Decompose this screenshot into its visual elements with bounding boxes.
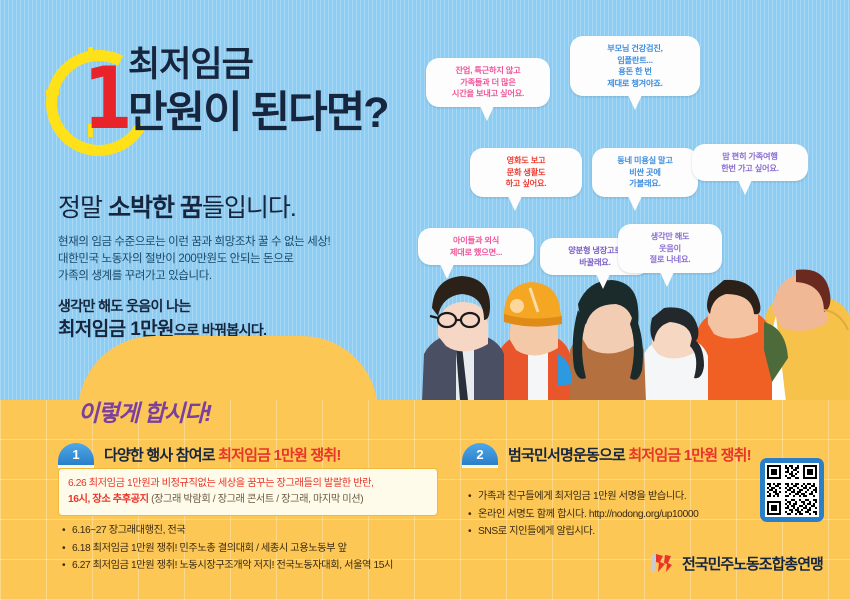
- section-2-title-plain: 범국민서명운동으로: [508, 447, 628, 464]
- headline-line-2: 만원이 된다면?: [128, 88, 448, 138]
- list-item: 6.18 최저임금 1만원 쟁취! 민주노총 결의대회 / 세종시 고용노동부 …: [62, 540, 462, 558]
- organization-name: 전국민주노동조합총연맹: [682, 553, 823, 574]
- subheading-emphasis: 소박한 꿈: [108, 194, 202, 222]
- event-line-1: 6.26 최저임금 1만원과 비정규직없는 세상을 꿈꾸는 장그래들의 발랄한 …: [68, 476, 428, 492]
- bubble-tail: [738, 180, 752, 195]
- bubble-line: 한번 가고 싶어요.: [702, 163, 798, 175]
- bubble-line: 하고 싶어요.: [480, 178, 572, 190]
- section-1-title-highlight: 최저임금 1만원 쟁취!: [218, 447, 340, 464]
- section-2-bullet-list: 가족과 친구들에게 최저임금 1만원 서명을 받습니다. 온라인 서명도 함께 …: [468, 488, 768, 541]
- section-1-bullet-list: 6.16~27 장그래대행진, 전국 6.18 최저임금 1만원 쟁취! 민주노…: [62, 522, 462, 575]
- list-item: 6.27 최저임금 1만원 쟁취! 노동시장구조개악 저지! 전국노동자대회, …: [62, 557, 462, 575]
- bubble-line: 제대로 챙겨야죠.: [580, 78, 690, 90]
- speech-bubble-salon: 동네 미용실 말고 비싼 곳에 가볼래요.: [592, 148, 698, 197]
- person-young-woman-ponytail: [644, 307, 708, 402]
- kctu-flag-icon: [650, 553, 676, 573]
- qr-code-pattern: [765, 463, 819, 517]
- body-line-2: 대한민국 노동자의 절반이 200만원도 안되는 돈으로: [58, 251, 438, 268]
- list-item: 6.16~27 장그래대행진, 전국: [62, 522, 462, 540]
- qr-code-svg: [765, 463, 819, 517]
- body-line-1: 현재의 임금 수준으로는 이런 꿈과 희망조차 꿀 수 없는 세상!: [58, 234, 438, 251]
- headline-line-1: 최저임금: [128, 44, 448, 86]
- closing-line-1: 생각만 해도 웃음이 나는: [58, 296, 438, 316]
- person-construction-worker: [496, 282, 572, 402]
- action-panel-heading: 이렇게 합시다!: [78, 394, 211, 428]
- section-1-title-plain: 다양한 행사 참여로: [104, 447, 218, 464]
- event-highlight-box: 6.26 최저임금 1만원과 비정규직없는 세상을 꿈꾸는 장그래들의 발랄한 …: [58, 468, 438, 516]
- list-item: 가족과 친구들에게 최저임금 1만원 서명을 받습니다.: [468, 488, 768, 506]
- speech-bubble-travel: 맘 편히 가족여행 한번 가고 싶어요.: [692, 144, 808, 181]
- bubble-tail: [660, 272, 674, 287]
- bubble-line: 맘 편히 가족여행: [702, 151, 798, 163]
- bubble-tail: [628, 95, 642, 110]
- poster-root: 1 최저임금 만원이 된다면? 정말 소박한 꿈들입니다. 현재의 임금 수준으…: [0, 0, 850, 600]
- section-2-title: 범국민서명운동으로 최저임금 1만원 쟁취!: [508, 444, 751, 465]
- section-1-title: 다양한 행사 참여로 최저임금 1만원 쟁취!: [104, 444, 341, 465]
- bubble-line: 영화도 보고: [480, 155, 572, 167]
- bubble-line: 아이들과 외식: [428, 235, 524, 247]
- bubble-line: 용돈 한 번: [580, 66, 690, 78]
- bubble-line: 생각만 해도: [628, 231, 712, 243]
- section-2-title-highlight: 최저임금 1만원 쟁취!: [628, 447, 750, 464]
- bubble-line: 잔업, 특근하지 않고: [436, 65, 540, 77]
- bubble-line: 비싼 곳에: [602, 167, 688, 179]
- subheading: 정말 소박한 꿈들입니다.: [58, 192, 418, 224]
- subheading-prefix: 정말: [58, 194, 108, 222]
- bubble-tail: [508, 196, 522, 211]
- speech-bubble-smile: 생각만 해도 웃음이 절로 나네요.: [618, 224, 722, 273]
- bubble-tail: [596, 274, 610, 289]
- body-line-3: 가족의 생계를 꾸려가고 있습니다.: [58, 268, 438, 285]
- body-paragraph: 현재의 임금 수준으로는 이런 꿈과 희망조차 꿀 수 없는 세상! 대한민국 …: [58, 234, 438, 285]
- speech-bubble-parents: 부모님 건강검진, 임플란트... 용돈 한 번 제대로 챙겨야죠.: [570, 36, 700, 96]
- bubble-line: 제대로 했으면...: [428, 247, 524, 259]
- bubble-line: 시간을 보내고 싶어요.: [436, 88, 540, 100]
- event-line-2-bold: 16시, 장소 추후공지: [68, 494, 151, 505]
- speech-bubble-movie: 영화도 보고 문화 생활도 하고 싶어요.: [470, 148, 582, 197]
- bubble-tail: [628, 196, 642, 211]
- list-item[interactable]: 온라인 서명도 함께 합시다. http://nodong.org/up1000…: [468, 506, 768, 524]
- person-long-haired-woman: [568, 280, 646, 402]
- speech-bubble-overtime: 잔업, 특근하지 않고 가족들과 더 많은 시간을 보내고 싶어요.: [426, 58, 550, 107]
- bubble-line: 부모님 건강검진,: [580, 43, 690, 55]
- bubble-tail: [440, 264, 454, 279]
- headline: 최저임금 만원이 된다면?: [128, 44, 448, 138]
- speech-bubble-dining: 아이들과 외식 제대로 했으면...: [418, 228, 534, 265]
- bubble-line: 절로 나네요.: [628, 254, 712, 266]
- bubble-line: 동네 미용실 말고: [602, 155, 688, 167]
- event-line-2: 16시, 장소 추후공지 (장그래 박람회 / 장그래 콘서트 / 장그래, 마…: [68, 492, 428, 508]
- bubble-line: 임플란트...: [580, 55, 690, 67]
- event-line-2-detail: (장그래 박람회 / 장그래 콘서트 / 장그래, 마지막 미션): [151, 494, 363, 505]
- bubble-line: 문화 생활도: [480, 167, 572, 179]
- bubble-line: 가볼래요.: [602, 178, 688, 190]
- qr-code[interactable]: [760, 458, 824, 522]
- bubble-tail: [480, 106, 494, 121]
- clock-number: 1: [83, 56, 132, 142]
- person-businessman-with-glasses: [422, 276, 504, 402]
- bubble-line: 가족들과 더 많은: [436, 77, 540, 89]
- list-item: SNS로 지인들에게 알립시다.: [468, 523, 768, 541]
- bubble-line: 웃음이: [628, 243, 712, 255]
- subheading-suffix: 들입니다.: [202, 194, 296, 222]
- clock-tick-left: [46, 90, 59, 95]
